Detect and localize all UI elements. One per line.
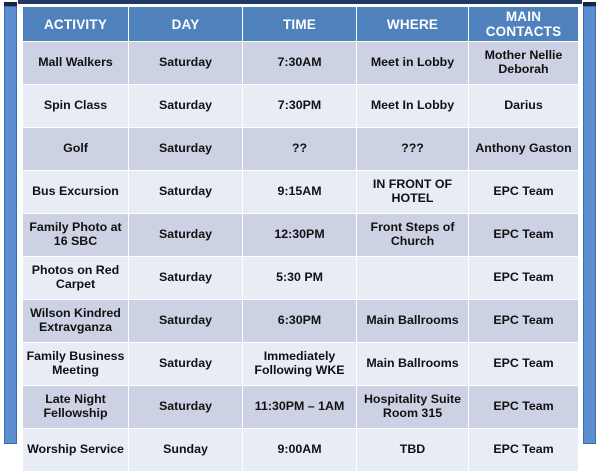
table-row: Wilson Kindred ExtravganzaSaturday6:30PM… xyxy=(23,300,579,343)
cell-contacts: Anthony Gaston xyxy=(469,128,579,171)
schedule-table-container: ACTIVITY DAY TIME WHERE MAINCONTACTS Mal… xyxy=(22,6,578,446)
cell-contacts: EPC Team xyxy=(469,343,579,386)
table-row: Family Business MeetingSaturdayImmediate… xyxy=(23,343,579,386)
cell-activity: Spin Class xyxy=(23,85,129,128)
table-row: Spin ClassSaturday7:30PMMeet In LobbyDar… xyxy=(23,85,579,128)
cell-day: Saturday xyxy=(129,343,243,386)
cell-day: Saturday xyxy=(129,85,243,128)
cell-day: Saturday xyxy=(129,171,243,214)
table-body: Mall WalkersSaturday7:30AMMeet in LobbyM… xyxy=(23,42,579,472)
cell-where: Hospitality Suite Room 315 xyxy=(357,386,469,429)
cell-contacts: EPC Team xyxy=(469,386,579,429)
table-row: Worship ServiceSunday9:00AMTBDEPC Team xyxy=(23,429,579,472)
cell-where: Meet In Lobby xyxy=(357,85,469,128)
cell-activity: Bus Excursion xyxy=(23,171,129,214)
table-row: Bus ExcursionSaturday9:15AMIN FRONT OF H… xyxy=(23,171,579,214)
cell-day: Saturday xyxy=(129,300,243,343)
cell-contacts: Darius xyxy=(469,85,579,128)
cell-time: 5:30 PM xyxy=(243,257,357,300)
cell-day: Saturday xyxy=(129,257,243,300)
cell-where: Front Steps of Church xyxy=(357,214,469,257)
cell-contacts: EPC Team xyxy=(469,429,579,472)
cell-time: 12:30PM xyxy=(243,214,357,257)
cell-activity: Family Photo at 16 SBC xyxy=(23,214,129,257)
cell-time: 6:30PM xyxy=(243,300,357,343)
table-row: Mall WalkersSaturday7:30AMMeet in LobbyM… xyxy=(23,42,579,85)
cell-day: Saturday xyxy=(129,128,243,171)
cell-activity: Late Night Fellowship xyxy=(23,386,129,429)
cell-time: 7:30AM xyxy=(243,42,357,85)
column-header-contacts: MAINCONTACTS xyxy=(469,7,579,42)
cell-activity: Worship Service xyxy=(23,429,129,472)
right-edge-bar xyxy=(583,6,596,444)
cell-contacts: EPC Team xyxy=(469,257,579,300)
cell-time: Immediately Following WKE xyxy=(243,343,357,386)
cell-day: Sunday xyxy=(129,429,243,472)
cell-activity: Wilson Kindred Extravganza xyxy=(23,300,129,343)
cell-where: IN FRONT OF HOTEL xyxy=(357,171,469,214)
cell-contacts: EPC Team xyxy=(469,214,579,257)
cell-contacts: EPC Team xyxy=(469,171,579,214)
schedule-table: ACTIVITY DAY TIME WHERE MAINCONTACTS Mal… xyxy=(22,6,579,472)
cell-where: Main Ballrooms xyxy=(357,300,469,343)
cell-where: Main Ballrooms xyxy=(357,343,469,386)
cell-activity: Mall Walkers xyxy=(23,42,129,85)
cell-time: 9:00AM xyxy=(243,429,357,472)
left-edge-bar xyxy=(4,6,17,444)
cell-activity: Photos on Red Carpet xyxy=(23,257,129,300)
cell-activity: Family Business Meeting xyxy=(23,343,129,386)
slide-frame: ACTIVITY DAY TIME WHERE MAINCONTACTS Mal… xyxy=(0,0,600,455)
table-header: ACTIVITY DAY TIME WHERE MAINCONTACTS xyxy=(23,7,579,42)
cell-time: 7:30PM xyxy=(243,85,357,128)
cell-time: 11:30PM – 1AM xyxy=(243,386,357,429)
table-row: Family Photo at 16 SBCSaturday12:30PMFro… xyxy=(23,214,579,257)
table-row: Photos on Red CarpetSaturday5:30 PMEPC T… xyxy=(23,257,579,300)
cell-contacts: EPC Team xyxy=(469,300,579,343)
cell-time: 9:15AM xyxy=(243,171,357,214)
cell-where xyxy=(357,257,469,300)
table-row: GolfSaturday?????Anthony Gaston xyxy=(23,128,579,171)
column-header-day: DAY xyxy=(129,7,243,42)
cell-activity: Golf xyxy=(23,128,129,171)
cell-day: Saturday xyxy=(129,386,243,429)
cell-day: Saturday xyxy=(129,42,243,85)
cell-where: TBD xyxy=(357,429,469,472)
cell-where: Meet in Lobby xyxy=(357,42,469,85)
column-header-time: TIME xyxy=(243,7,357,42)
table-row: Late Night FellowshipSaturday11:30PM – 1… xyxy=(23,386,579,429)
cell-contacts: Mother Nellie Deborah xyxy=(469,42,579,85)
column-header-activity: ACTIVITY xyxy=(23,7,129,42)
header-row: ACTIVITY DAY TIME WHERE MAINCONTACTS xyxy=(23,7,579,42)
cell-time: ?? xyxy=(243,128,357,171)
top-accent-strip xyxy=(18,0,582,4)
cell-day: Saturday xyxy=(129,214,243,257)
cell-where: ??? xyxy=(357,128,469,171)
column-header-where: WHERE xyxy=(357,7,469,42)
